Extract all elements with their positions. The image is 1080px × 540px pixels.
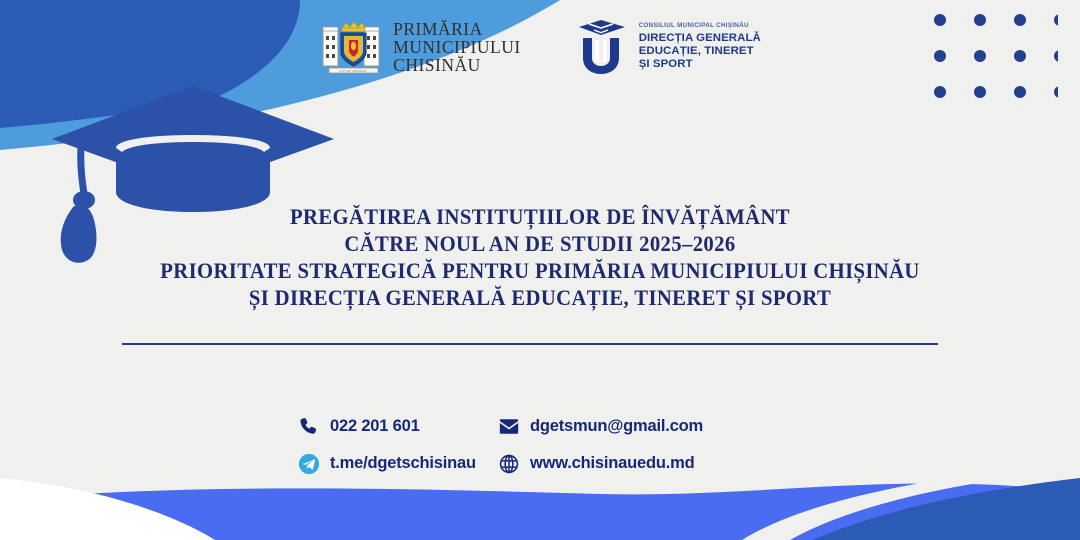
primaria-line2: MUNICIPIULUI [393,38,521,56]
headline-line-1: PREGĂTIREA INSTITUȚIILOR DE ÎNVĂȚĂMÂNT [43,203,1037,230]
contact-email-label: dgetsmun@gmail.com [530,417,703,436]
chisinau-coat-of-arms-icon: CITY OF CHISINAU [319,16,383,78]
svg-text:CITY OF CHISINAU: CITY OF CHISINAU [339,69,367,73]
primaria-line1: PRIMĂRIA [393,20,521,38]
contact-telegram-label: t.me/dgetschisinau [330,454,476,473]
dgets-logo-text: CONSILIUL MUNICIPAL CHIȘINĂU DIRECȚIA GE… [639,23,761,70]
telegram-icon [298,453,320,475]
contact-phone[interactable]: 022 201 601 [298,416,498,438]
headline-line-4: ȘI DIRECȚIA GENERALĂ EDUCAȚIE, TINERET Ș… [43,284,1037,311]
headline: PREGĂTIREA INSTITUȚIILOR DE ÎNVĂȚĂMÂNT C… [0,203,1080,311]
primaria-logo-text: PRIMĂRIA MUNICIPIULUI CHISINĂU [393,20,521,75]
dgets-line2: EDUCAȚIE, TINERET [639,45,761,58]
headline-line-2: CĂTRE NOUL AN DE STUDII 2025–2026 [43,230,1037,257]
dgets-logo: CONSILIUL MUNICIPAL CHIȘINĂU DIRECȚIA GE… [577,18,761,76]
phone-icon [298,416,320,438]
contact-block: 022 201 601 dgetsmun@gmail.com t.me/dget… [298,408,768,482]
headline-line-3: PRIORITATE STRATEGICĂ PENTRU PRIMĂRIA MU… [43,257,1037,284]
divider-line [122,343,938,345]
dgets-monogram-icon [577,18,629,76]
dgets-line3: ȘI SPORT [639,58,761,71]
logo-row: CITY OF CHISINAU PRIMĂRIA MUNICIPIULUI C… [0,16,1080,78]
poster-canvas: CITY OF CHISINAU PRIMĂRIA MUNICIPIULUI C… [0,0,1080,540]
globe-icon [498,453,520,475]
dgets-line1: DIRECȚIA GENERALĂ [639,32,761,45]
contact-telegram[interactable]: t.me/dgetschisinau [298,453,498,475]
email-icon [498,416,520,438]
contact-phone-label: 022 201 601 [330,417,420,436]
dgets-superline: CONSILIUL MUNICIPAL CHIȘINĂU [639,23,761,30]
contact-website[interactable]: www.chisinauedu.md [498,453,768,475]
contact-website-label: www.chisinauedu.md [530,454,694,473]
contact-email[interactable]: dgetsmun@gmail.com [498,416,768,438]
primaria-line3: CHISINĂU [393,56,521,74]
primaria-logo: CITY OF CHISINAU PRIMĂRIA MUNICIPIULUI C… [319,16,521,78]
